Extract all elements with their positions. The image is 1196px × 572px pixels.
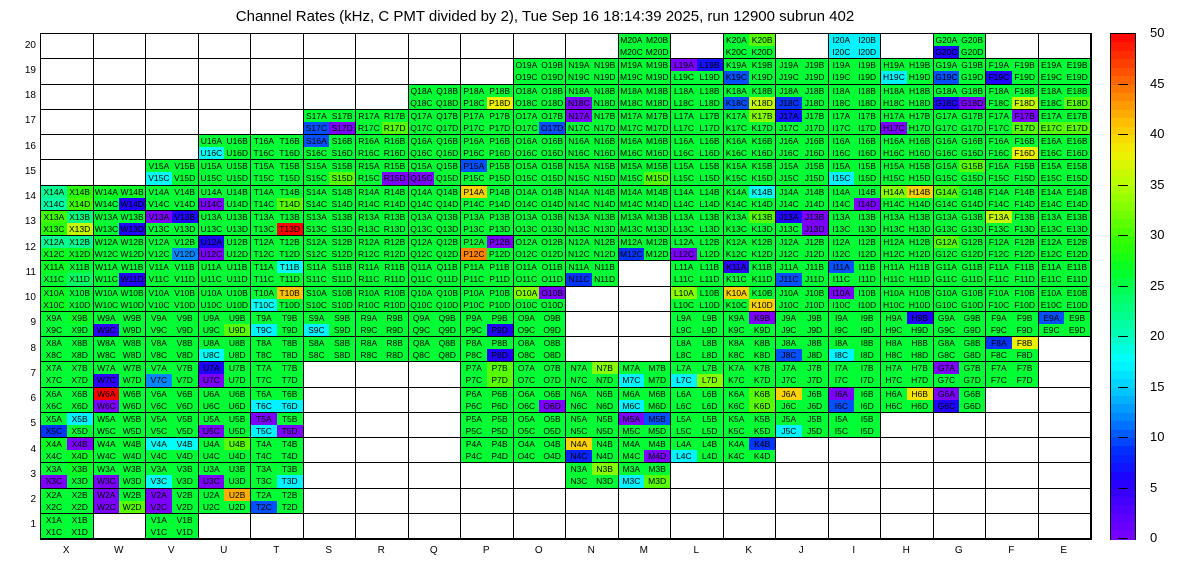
grid-cell: J16AJ16BJ16CJ16D [776, 135, 829, 160]
channel-U16A: U16A [199, 135, 225, 147]
grid-cell: E12AE12BE12CE12D [1039, 236, 1092, 261]
channel-W10C: W10C [94, 299, 120, 311]
grid-cell: O14AO14BO14CO14D [514, 186, 567, 211]
grid-cell: F13AF13BF13CF13D [986, 211, 1039, 236]
channel-U12B: U12B [224, 236, 250, 248]
grid-cell [671, 489, 724, 514]
grid-cell: J14AJ14BJ14CJ14D [776, 186, 829, 211]
channel-V5B: V5B [172, 413, 198, 425]
grid-cell [461, 34, 514, 59]
channel-V12B: V12B [172, 236, 198, 248]
channel-G15C: G15C [934, 172, 960, 184]
grid-cell [146, 135, 199, 160]
channel-V4D: V4D [172, 450, 198, 462]
channel-E9B: E9B [1064, 312, 1090, 324]
palette-tick-label: 40 [1150, 126, 1164, 141]
channel-V6C: V6C [146, 400, 172, 412]
channel-M18D: M18D [644, 97, 670, 109]
channel-Q18D: Q18D [434, 97, 460, 109]
channel-K13D: K13D [749, 223, 775, 235]
grid-cell: S16AS16BS16CS16D [304, 135, 357, 160]
palette-tick-label: 15 [1150, 379, 1164, 394]
channel-R9D: R9D [382, 324, 408, 336]
channel-L5C: L5C [671, 425, 697, 437]
channel-H11A: H11A [881, 261, 907, 273]
channel-M13C: M13C [619, 223, 645, 235]
channel-I13D: I13D [854, 223, 880, 235]
channel-F9B: F9B [1012, 312, 1038, 324]
grid-cell: J17AJ17BJ17CJ17D [776, 110, 829, 135]
channel-I18D: I18D [854, 97, 880, 109]
grid-cell [304, 362, 357, 387]
grid-cell: P13AP13BP13CP13D [461, 211, 514, 236]
grid-cell [409, 438, 462, 463]
grid-cell: Q18AQ18BQ18CQ18D [409, 85, 462, 110]
channel-U8B: U8B [224, 337, 250, 349]
channel-M19D: M19D [644, 71, 670, 83]
channel-N4A: N4A [566, 438, 592, 450]
channel-J9A: J9A [776, 312, 802, 324]
channel-K17D: K17D [749, 122, 775, 134]
channel-V11A: V11A [146, 261, 172, 273]
channel-P6B: P6B [487, 388, 513, 400]
grid-cell: R14AR14BR14CR14D [356, 186, 409, 211]
channel-V15B: V15B [172, 160, 198, 172]
grid-cell [1039, 34, 1092, 59]
channel-G18D: G18D [959, 97, 985, 109]
channel-N5C: N5C [566, 425, 592, 437]
channel-G16B: G16B [959, 135, 985, 147]
grid-cell: K12AK12BK12CK12D [724, 236, 777, 261]
channel-T6C: T6C [251, 400, 277, 412]
grid-cell: N3AN3BN3CN3D [566, 463, 619, 488]
channel-K9B: K9B [749, 312, 775, 324]
channel-Q9C: Q9C [409, 324, 435, 336]
channel-I7B: I7B [854, 362, 880, 374]
channel-U11C: U11C [199, 273, 225, 285]
channel-N12B: N12B [592, 236, 618, 248]
y-tick-label: 13 [6, 216, 36, 227]
channel-M5C: M5C [619, 425, 645, 437]
channel-N15C: N15C [566, 172, 592, 184]
channel-X10A: X10A [41, 287, 67, 299]
grid-cell: O11AO11BO11CO11D [514, 261, 567, 286]
channel-G17D: G17D [959, 122, 985, 134]
palette-tick-label: 20 [1150, 328, 1164, 343]
channel-F11A: F11A [986, 261, 1012, 273]
grid-cell: I5AI5BI5CI5D [829, 413, 882, 438]
channel-O19C: O19C [514, 71, 540, 83]
channel-N4D: N4D [592, 450, 618, 462]
channel-S9D: S9D [329, 324, 355, 336]
palette-tick [1118, 538, 1128, 539]
channel-V5C: V5C [146, 425, 172, 437]
channel-Q12D: Q12D [434, 248, 460, 260]
grid-cell [619, 337, 672, 362]
channel-G14A: G14A [934, 186, 960, 198]
channel-H6B: H6B [907, 388, 933, 400]
channel-U9D: U9D [224, 324, 250, 336]
channel-J10A: J10A [776, 287, 802, 299]
grid-cell [619, 514, 672, 539]
channel-O18C: O18C [514, 97, 540, 109]
channel-Q11B: Q11B [434, 261, 460, 273]
grid-cell: V1AV1BV1CV1D [146, 514, 199, 539]
channel-O6C: O6C [514, 400, 540, 412]
channel-N16A: N16A [566, 135, 592, 147]
channel-X3C: X3C [41, 475, 67, 487]
channel-P15A: P15A [461, 160, 487, 172]
channel-J14A: J14A [776, 186, 802, 198]
channel-V10C: V10C [146, 299, 172, 311]
channel-J13C: J13C [776, 223, 802, 235]
channel-O8D: O8D [539, 349, 565, 361]
grid-cell [304, 489, 357, 514]
grid-cell [934, 514, 987, 539]
grid-cell [94, 160, 147, 185]
channel-T9D: T9D [277, 324, 303, 336]
channel-X2B: X2B [67, 489, 93, 501]
channel-G14C: G14C [934, 198, 960, 210]
channel-X12B: X12B [67, 236, 93, 248]
channel-L11D: L11D [697, 273, 723, 285]
grid-cell [881, 438, 934, 463]
grid-cell [776, 514, 829, 539]
channel-M13D: M13D [644, 223, 670, 235]
channel-L16C: L16C [671, 147, 697, 159]
channel-V7B: V7B [172, 362, 198, 374]
grid-cell: G20AG20BG20CG20D [934, 34, 987, 59]
channel-R12B: R12B [382, 236, 408, 248]
channel-F16D: F16D [1012, 147, 1038, 159]
channel-R12C: R12C [356, 248, 382, 260]
grid-cell: M15AM15BM15CM15D [619, 160, 672, 185]
grid-cell: R16AR16BR16CR16D [356, 135, 409, 160]
channel-P17C: P17C [461, 122, 487, 134]
channel-Q17B: Q17B [434, 110, 460, 122]
channel-V1B: V1B [172, 514, 198, 526]
grid-cell: X10AX10BX10CX10D [41, 287, 94, 312]
grid-cell: V13AV13BV13CV13D [146, 211, 199, 236]
grid-cell: O18AO18BO18CO18D [514, 85, 567, 110]
channel-W12B: W12B [119, 236, 145, 248]
channel-L6B: L6B [697, 388, 723, 400]
channel-T13C: T13C [251, 223, 277, 235]
channel-E13A: E13A [1039, 211, 1065, 223]
channel-R8A: R8A [356, 337, 382, 349]
grid-cell: H10AH10BH10CH10D [881, 287, 934, 312]
x-tick-label: M [629, 545, 659, 556]
channel-J8C: J8C [776, 349, 802, 361]
channel-M6A: M6A [619, 388, 645, 400]
channel-H16D: H16D [907, 147, 933, 159]
channel-R10A: R10A [356, 287, 382, 299]
grid-cell [356, 362, 409, 387]
grid-cell: U12AU12BU12CU12D [199, 236, 252, 261]
grid-cell: Q10AQ10BQ10CQ10D [409, 287, 462, 312]
grid-cell [41, 59, 94, 84]
grid-cell: N18AN18BN18CN18D [566, 85, 619, 110]
channel-N5B: N5B [592, 413, 618, 425]
grid-cell: M7AM7BM7CM7D [619, 362, 672, 387]
palette-tick-label: 30 [1150, 227, 1164, 242]
channel-G7A: G7A [934, 362, 960, 374]
channel-K4B: K4B [749, 438, 775, 450]
channel-V9D: V9D [172, 324, 198, 336]
grid-cell: J8AJ8BJ8CJ8D [776, 337, 829, 362]
channel-V13A: V13A [146, 211, 172, 223]
palette-tick-label: 10 [1150, 429, 1164, 444]
channel-I13B: I13B [854, 211, 880, 223]
channel-L18B: L18B [697, 85, 723, 97]
grid-cell: Q14AQ14BQ14CQ14D [409, 186, 462, 211]
channel-W3A: W3A [94, 463, 120, 475]
channel-L10D: L10D [697, 299, 723, 311]
channel-U5D: U5D [224, 425, 250, 437]
channel-P10B: P10B [487, 287, 513, 299]
grid-cell: L10AL10BL10CL10D [671, 287, 724, 312]
grid-cell: O19AO19BO19CO19D [514, 59, 567, 84]
channel-H16A: H16A [881, 135, 907, 147]
channel-O4A: O4A [514, 438, 540, 450]
channel-O17D: O17D [539, 122, 565, 134]
grid-cell: K18AK18BK18CK18D [724, 85, 777, 110]
channel-I11A: I11A [829, 261, 855, 273]
channel-O12C: O12C [514, 248, 540, 260]
channel-L11A: L11A [671, 261, 697, 273]
channel-K13C: K13C [724, 223, 750, 235]
grid-cell: M5AM5BM5CM5D [619, 413, 672, 438]
x-tick-label: F [996, 545, 1026, 556]
grid-cell: I8AI8BI8CI8D [829, 337, 882, 362]
channel-L9C: L9C [671, 324, 697, 336]
channel-X7D: X7D [67, 374, 93, 386]
channel-L17B: L17B [697, 110, 723, 122]
channel-G19D: G19D [959, 71, 985, 83]
channel-L12C: L12C [671, 248, 697, 260]
channel-T11A: T11A [251, 261, 277, 273]
channel-V10A: V10A [146, 287, 172, 299]
channel-E11C: E11C [1039, 273, 1065, 285]
channel-W9A: W9A [94, 312, 120, 324]
channel-J18A: J18A [776, 85, 802, 97]
channel-K6A: K6A [724, 388, 750, 400]
channel-R16C: R16C [356, 147, 382, 159]
palette-tick [1118, 488, 1128, 489]
channel-P5B: P5B [487, 413, 513, 425]
channel-H19B: H19B [907, 59, 933, 71]
channel-S15D: S15D [329, 172, 355, 184]
channel-H11D: H11D [907, 273, 933, 285]
channel-L8C: L8C [671, 349, 697, 361]
channel-M14D: M14D [644, 198, 670, 210]
channel-V7D: V7D [172, 374, 198, 386]
channel-X5A: X5A [41, 413, 67, 425]
channel-N17A: N17A [566, 110, 592, 122]
grid-cell: O5AO5BO5CO5D [514, 413, 567, 438]
channel-T8C: T8C [251, 349, 277, 361]
channel-E10C: E10C [1039, 299, 1065, 311]
channel-S8C: S8C [304, 349, 330, 361]
grid-cell: T3AT3BT3CT3D [251, 463, 304, 488]
channel-I14D: I14D [854, 198, 880, 210]
channel-J8D: J8D [802, 349, 828, 361]
channel-X1B: X1B [67, 514, 93, 526]
channel-H8D: H8D [907, 349, 933, 361]
channel-V7C: V7C [146, 374, 172, 386]
channel-G19C: G19C [934, 71, 960, 83]
grid-cell: I16AI16BI16CI16D [829, 135, 882, 160]
channel-M3C: M3C [619, 475, 645, 487]
channel-O10B: O10B [539, 287, 565, 299]
channel-J19C: J19C [776, 71, 802, 83]
channel-L15B: L15B [697, 160, 723, 172]
channel-L18A: L18A [671, 85, 697, 97]
channel-U10D: U10D [224, 299, 250, 311]
channel-R8D: R8D [382, 349, 408, 361]
channel-Q13B: Q13B [434, 211, 460, 223]
grid-cell: T8AT8BT8CT8D [251, 337, 304, 362]
grid-cell: K15AK15BK15CK15D [724, 160, 777, 185]
channel-F7D: F7D [1012, 374, 1038, 386]
channel-H18D: H18D [907, 97, 933, 109]
channel-H13D: H13D [907, 223, 933, 235]
grid-cell: W9AW9BW9CW9D [94, 312, 147, 337]
channel-I13A: I13A [829, 211, 855, 223]
grid-cell: U10AU10BU10CU10D [199, 287, 252, 312]
grid-cell: M18AM18BM18CM18D [619, 85, 672, 110]
channel-L17D: L17D [697, 122, 723, 134]
y-tick-label: 9 [6, 317, 36, 328]
channel-L12D: L12D [697, 248, 723, 260]
grid-cell: F12AF12BF12CF12D [986, 236, 1039, 261]
channel-M16D: M16D [644, 147, 670, 159]
channel-M5B: M5B [644, 413, 670, 425]
channel-V11B: V11B [172, 261, 198, 273]
channel-T2A: T2A [251, 489, 277, 501]
channel-M19C: M19C [619, 71, 645, 83]
channel-E11A: E11A [1039, 261, 1065, 273]
grid-cell: K11AK11BK11CK11D [724, 261, 777, 286]
channel-K16C: K16C [724, 147, 750, 159]
channel-K17B: K17B [749, 110, 775, 122]
channel-X6D: X6D [67, 400, 93, 412]
channel-J19B: J19B [802, 59, 828, 71]
channel-L19C: L19C [671, 71, 697, 83]
palette-tick-label: 50 [1150, 25, 1164, 40]
channel-S8A: S8A [304, 337, 330, 349]
channel-N13B: N13B [592, 211, 618, 223]
channel-J6A: J6A [776, 388, 802, 400]
x-tick-label: O [524, 545, 554, 556]
palette-tick [1118, 286, 1128, 287]
channel-M17C: M17C [619, 122, 645, 134]
grid-cell: F10AF10BF10CF10D [986, 287, 1039, 312]
grid-cell: G17AG17BG17CG17D [934, 110, 987, 135]
channel-I10C: I10C [829, 299, 855, 311]
channel-O14C: O14C [514, 198, 540, 210]
channel-L8A: L8A [671, 337, 697, 349]
channel-N12A: N12A [566, 236, 592, 248]
channel-N11D: N11D [592, 273, 618, 285]
grid-cell [356, 85, 409, 110]
channel-R11D: R11D [382, 273, 408, 285]
channel-K5A: K5A [724, 413, 750, 425]
grid-cell [566, 34, 619, 59]
channel-G9B: G9B [959, 312, 985, 324]
channel-J18C: J18C [776, 97, 802, 109]
channel-Q12B: Q12B [434, 236, 460, 248]
channel-G20D: G20D [959, 46, 985, 58]
channel-J13B: J13B [802, 211, 828, 223]
channel-N3D: N3D [592, 475, 618, 487]
grid-cell [881, 34, 934, 59]
channel-L17C: L17C [671, 122, 697, 134]
channel-W12A: W12A [94, 236, 120, 248]
channel-P14D: P14D [487, 198, 513, 210]
channel-K7A: K7A [724, 362, 750, 374]
channel-I19D: I19D [854, 71, 880, 83]
channel-K19B: K19B [749, 59, 775, 71]
channel-W4C: W4C [94, 450, 120, 462]
channel-P11D: P11D [487, 273, 513, 285]
grid-cell: S8AS8BS8CS8D [304, 337, 357, 362]
channel-I12C: I12C [829, 248, 855, 260]
grid-cell: V11AV11BV11CV11D [146, 261, 199, 286]
channel-Q11C: Q11C [409, 273, 435, 285]
channel-I8C: I8C [829, 349, 855, 361]
channel-V3A: V3A [146, 463, 172, 475]
channel-E12B: E12B [1064, 236, 1090, 248]
channel-M13B: M13B [644, 211, 670, 223]
grid-cell [986, 463, 1039, 488]
channel-W8B: W8B [119, 337, 145, 349]
channel-W7B: W7B [119, 362, 145, 374]
channel-N18C: N18C [566, 97, 592, 109]
channel-L17A: L17A [671, 110, 697, 122]
grid-cell: P8AP8BP8CP8D [461, 337, 514, 362]
channel-K8D: K8D [749, 349, 775, 361]
channel-M4C: M4C [619, 450, 645, 462]
grid-cell: G11AG11BG11CG11D [934, 261, 987, 286]
channel-M19A: M19A [619, 59, 645, 71]
cell-grid: M20AM20BM20CM20DK20AK20BK20CK20DI20AI20B… [41, 34, 1091, 539]
channel-V15A: V15A [146, 160, 172, 172]
channel-U8D: U8D [224, 349, 250, 361]
channel-W14C: W14C [94, 198, 120, 210]
grid-cell: F15AF15BF15CF15D [986, 160, 1039, 185]
channel-E18D: E18D [1064, 97, 1090, 109]
channel-O18B: O18B [539, 85, 565, 97]
channel-L10C: L10C [671, 299, 697, 311]
channel-O13B: O13B [539, 211, 565, 223]
grid-cell [94, 135, 147, 160]
channel-I14A: I14A [829, 186, 855, 198]
channel-I15C: I15C [829, 172, 855, 184]
channel-K19C: K19C [724, 71, 750, 83]
grid-cell: X2AX2BX2CX2D [41, 489, 94, 514]
channel-X8B: X8B [67, 337, 93, 349]
channel-I8D: I8D [854, 349, 880, 361]
channel-W8C: W8C [94, 349, 120, 361]
channel-J7A: J7A [776, 362, 802, 374]
channel-M12C: M12C [619, 248, 645, 260]
x-tick-label: U [209, 545, 239, 556]
channel-M3B: M3B [644, 463, 670, 475]
channel-K10D: K10D [749, 299, 775, 311]
grid-cell: R13AR13BR13CR13D [356, 211, 409, 236]
channel-J5A: J5A [776, 413, 802, 425]
